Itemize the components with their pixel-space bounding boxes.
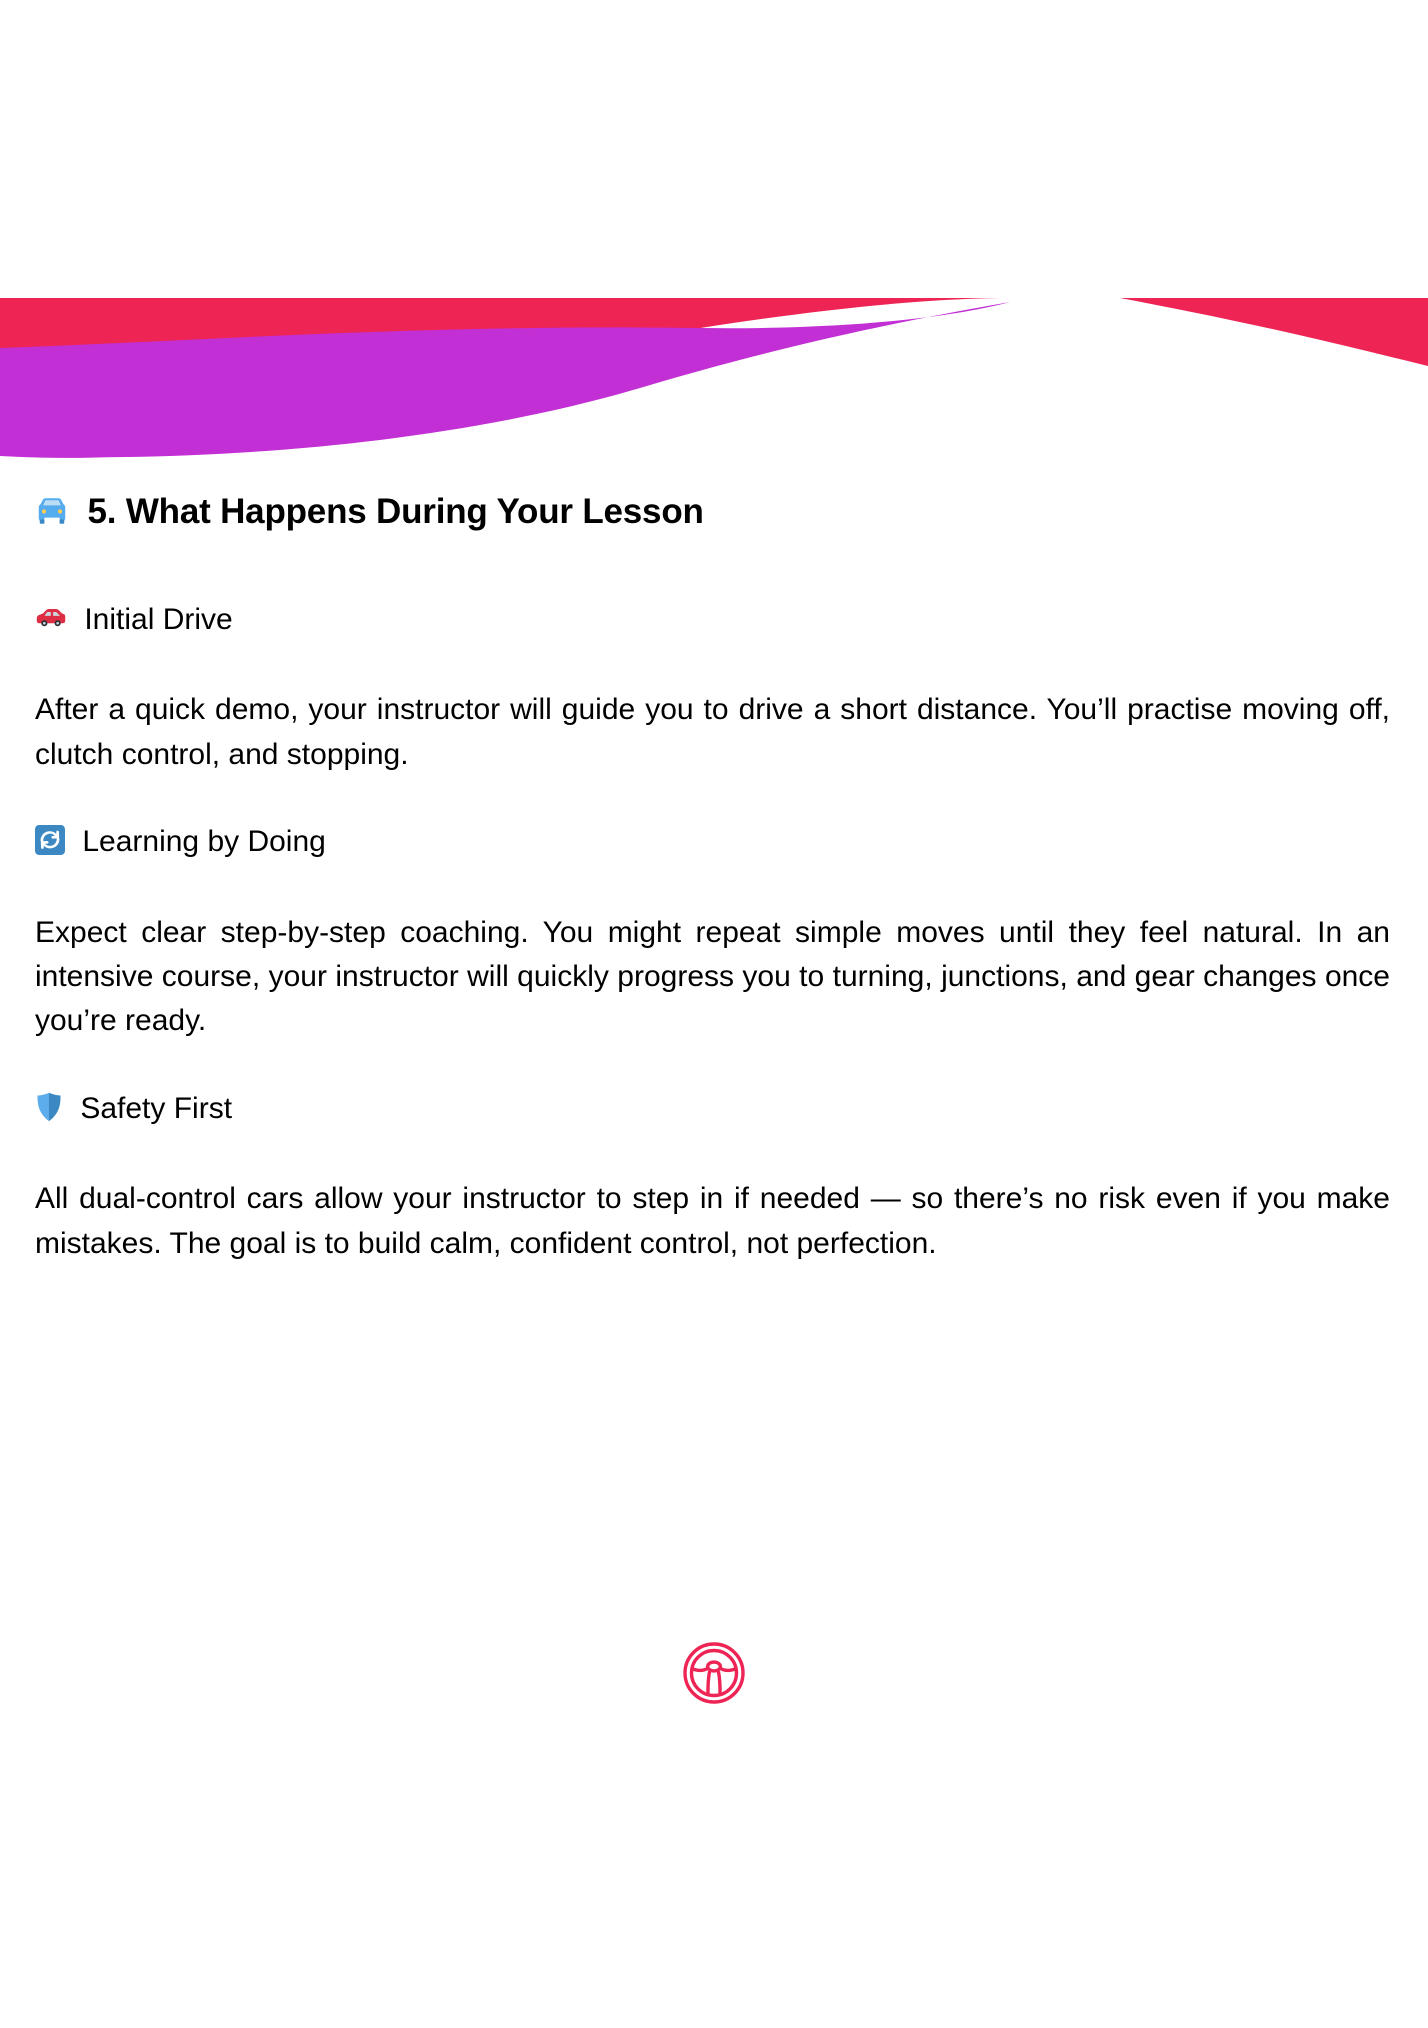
section-heading-text: Initial Drive xyxy=(84,603,232,636)
footer-logo xyxy=(0,1636,1428,1710)
arrows-counterclockwise-icon xyxy=(35,825,65,865)
header-red-wave-left xyxy=(0,298,1000,416)
steering-wheel-icon xyxy=(677,1636,751,1710)
section-heading-safety-first: Safety First xyxy=(35,1090,1393,1132)
page-content: 5. What Happens During Your Lesson Initi… xyxy=(35,490,1393,1266)
section-heading-learning-by-doing: Learning by Doing xyxy=(35,823,1393,865)
section-initial-drive: Initial Drive After a quick demo, your i… xyxy=(35,601,1393,777)
red-car-side-icon xyxy=(35,601,67,643)
section-learning-by-doing: Learning by Doing Expect clear step-by-s… xyxy=(35,823,1393,1044)
section-safety-first: Safety First All dual-control cars allow… xyxy=(35,1090,1393,1266)
header-purple-wave xyxy=(0,302,1010,458)
document-page: 5. What Happens During Your Lesson Initi… xyxy=(0,0,1428,2028)
section-heading-initial-drive: Initial Drive xyxy=(35,601,1393,643)
section-body-initial-drive: After a quick demo, your instructor will… xyxy=(35,688,1390,777)
section-heading-text: Safety First xyxy=(80,1092,232,1125)
shield-icon xyxy=(35,1092,63,1132)
page-title: 5. What Happens During Your Lesson xyxy=(35,490,1393,539)
page-title-text: 5. What Happens During Your Lesson xyxy=(88,492,704,531)
section-body-learning-by-doing: Expect clear step-by-step coaching. You … xyxy=(35,911,1390,1044)
section-heading-text: Learning by Doing xyxy=(82,825,326,858)
header-red-wave-right xyxy=(1120,298,1428,366)
section-body-safety-first: All dual-control cars allow your instruc… xyxy=(35,1177,1390,1266)
header-wave-graphic xyxy=(0,0,1428,470)
blue-car-front-icon xyxy=(35,494,69,539)
